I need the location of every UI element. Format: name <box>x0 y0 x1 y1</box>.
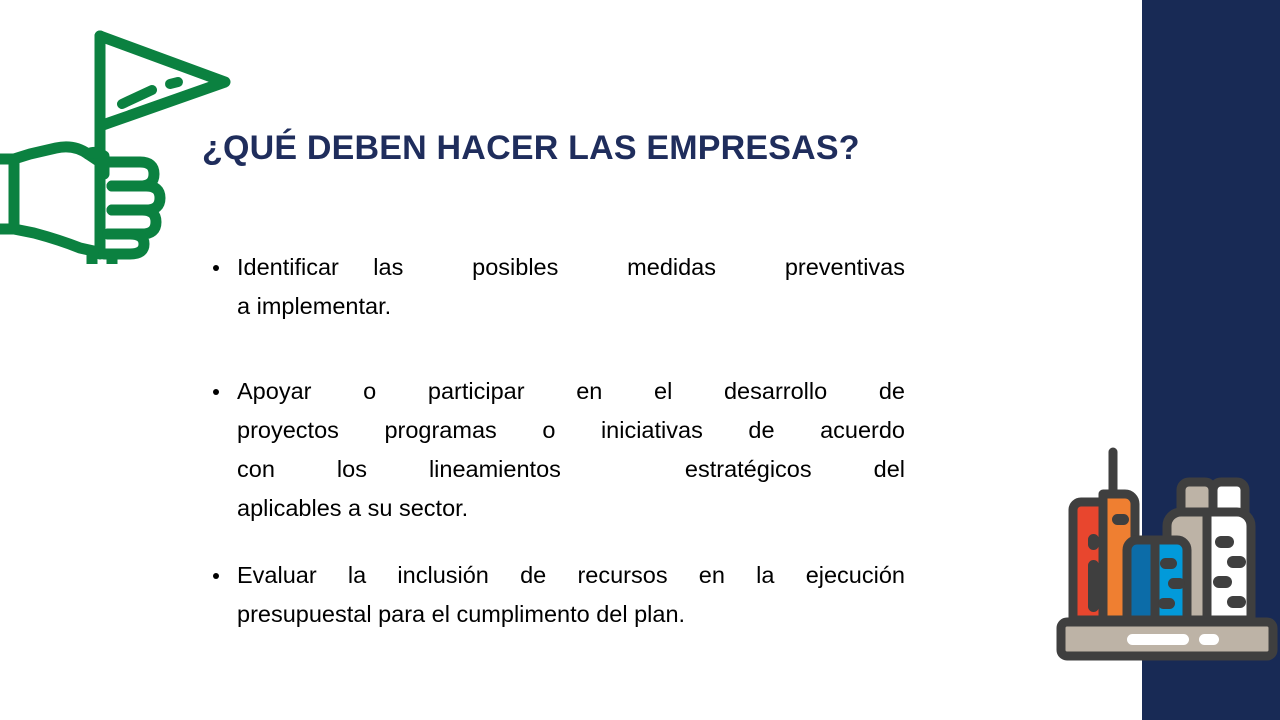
bullet-list: Identificar las posibles medidas prevent… <box>205 248 905 634</box>
bullet-line: a implementar. <box>237 287 905 326</box>
bullet-line: aplicables a su sector. <box>237 489 905 528</box>
bullet-dot-icon <box>213 573 219 579</box>
bullet-dot-icon <box>213 265 219 271</box>
bullet-line: Evaluar la inclusión de recursos en la e… <box>237 556 905 595</box>
bullet-line: Identificar las posibles medidas prevent… <box>237 248 905 287</box>
slide-canvas: ¿QUÉ DEBEN HACER LAS EMPRESAS? Identific… <box>0 0 1280 720</box>
bullet-line: Apoyar o participar en el desarrollo de <box>237 372 905 411</box>
city-buildings-icon <box>1055 440 1280 665</box>
bullet-line: con los lineamientos estratégicos del <box>237 450 905 489</box>
bullet-line: proyectos programas o iniciativas de acu… <box>237 411 905 450</box>
page-title: ¿QUÉ DEBEN HACER LAS EMPRESAS? <box>202 129 860 168</box>
list-item: Apoyar o participar en el desarrollo de … <box>205 372 905 528</box>
bullet-line: presupuestal para el cumplimento del pla… <box>237 595 905 634</box>
bullet-dot-icon <box>213 389 219 395</box>
list-item: Identificar las posibles medidas prevent… <box>205 248 905 326</box>
list-item: Evaluar la inclusión de recursos en la e… <box>205 556 905 634</box>
